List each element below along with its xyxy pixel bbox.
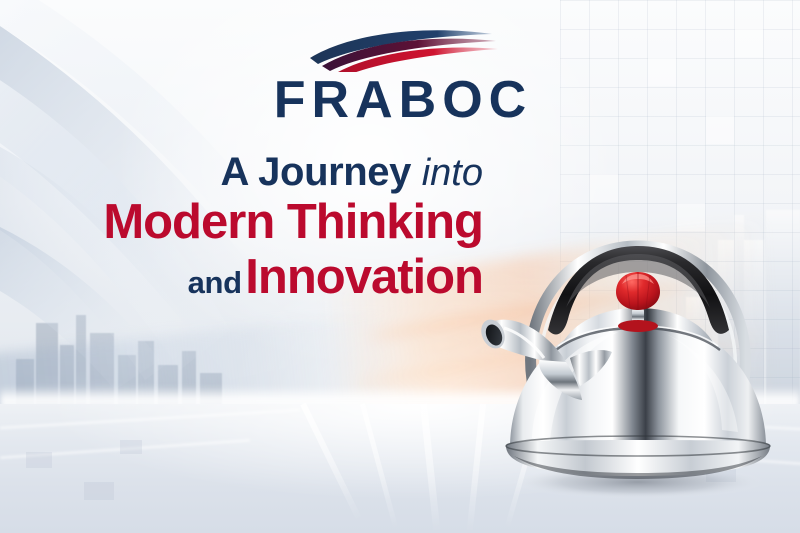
brand-logo: FRABOC xyxy=(0,28,800,126)
headline-line-2: Modern Thinking xyxy=(0,198,483,247)
headline-line-3-primary: Innovation xyxy=(245,250,483,304)
poster-canvas: FRABOC A Journey into Modern Thinking an… xyxy=(0,0,800,533)
brand-wordmark: FRABOC xyxy=(0,74,800,126)
headline-line-1-primary: A Journey xyxy=(220,150,411,194)
product-kettle-image xyxy=(470,180,800,510)
headline-block: A Journey into Modern Thinking and Innov… xyxy=(0,152,505,302)
headline-line-3: and Innovation xyxy=(0,253,483,302)
headline-line-1: A Journey into xyxy=(0,152,483,192)
headline-line-3-prefix: and xyxy=(188,265,242,300)
swoosh-arc-logo-icon xyxy=(300,28,500,72)
